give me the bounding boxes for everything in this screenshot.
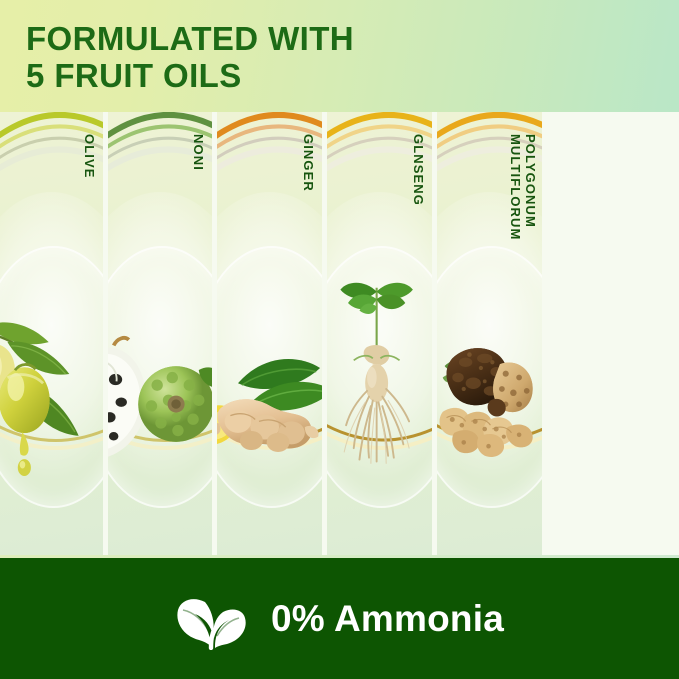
golden-sweep xyxy=(108,392,212,462)
ingredient-label-noni: NONI xyxy=(191,134,206,171)
ingredient-label-olive: OLIVE xyxy=(82,134,97,179)
bowl-ring xyxy=(217,246,322,509)
bowl-ring xyxy=(327,246,432,509)
heading-line-1: FORMULATED WITH xyxy=(26,20,354,57)
infographic-canvas: FORMULATED WITH 5 FRUIT OILS xyxy=(0,0,679,679)
ammonia-free-text: 0% Ammonia xyxy=(271,598,504,640)
heading-line-2: 5 FRUIT OILS xyxy=(26,57,646,94)
ingredient-panel-ginseng: GLNSENG xyxy=(327,112,432,558)
golden-sweep xyxy=(327,392,432,462)
panel-divider-end xyxy=(542,112,679,558)
bowl-highlight xyxy=(217,192,322,486)
bowl-highlight xyxy=(108,192,212,486)
olive-fruit-image xyxy=(0,273,103,503)
noni-fruit-image xyxy=(108,273,212,503)
ingredient-panel-olive: OLIVE xyxy=(0,112,103,558)
ingredient-label-ginger: GINGER xyxy=(301,134,316,192)
bowl-highlight xyxy=(0,192,103,486)
golden-sweep xyxy=(0,392,103,462)
leaf-icon xyxy=(175,588,249,650)
ingredient-panel-strip: OLIVE xyxy=(0,112,679,558)
golden-sweep xyxy=(437,392,542,462)
golden-sweep xyxy=(217,392,322,462)
label-line-1: POLYGONUM xyxy=(523,134,538,228)
bowl-ring xyxy=(0,246,103,509)
ingredient-panel-ginger: GINGER xyxy=(217,112,322,558)
polygonum-multiflorum-image xyxy=(437,273,542,503)
bowl-highlight xyxy=(327,192,432,486)
ingredient-label-ginseng: GLNSENG xyxy=(411,134,426,206)
bowl-ring xyxy=(108,246,212,509)
ingredient-panel-noni: NONI xyxy=(108,112,212,558)
bowl-ring xyxy=(437,246,542,509)
ingredient-label-polygonum-multiflorum: POLYGONUM MULTIFLORUM xyxy=(508,134,538,240)
ammonia-free-banner: 0% Ammonia xyxy=(0,558,679,679)
ingredient-panel-polygonum-multiflorum: POLYGONUM MULTIFLORUM xyxy=(437,112,542,558)
ginger-root-image xyxy=(217,273,322,503)
label-line-2: MULTIFLORUM xyxy=(508,134,523,240)
ginseng-root-image xyxy=(327,273,432,503)
page-title: FORMULATED WITH 5 FRUIT OILS xyxy=(26,20,646,94)
